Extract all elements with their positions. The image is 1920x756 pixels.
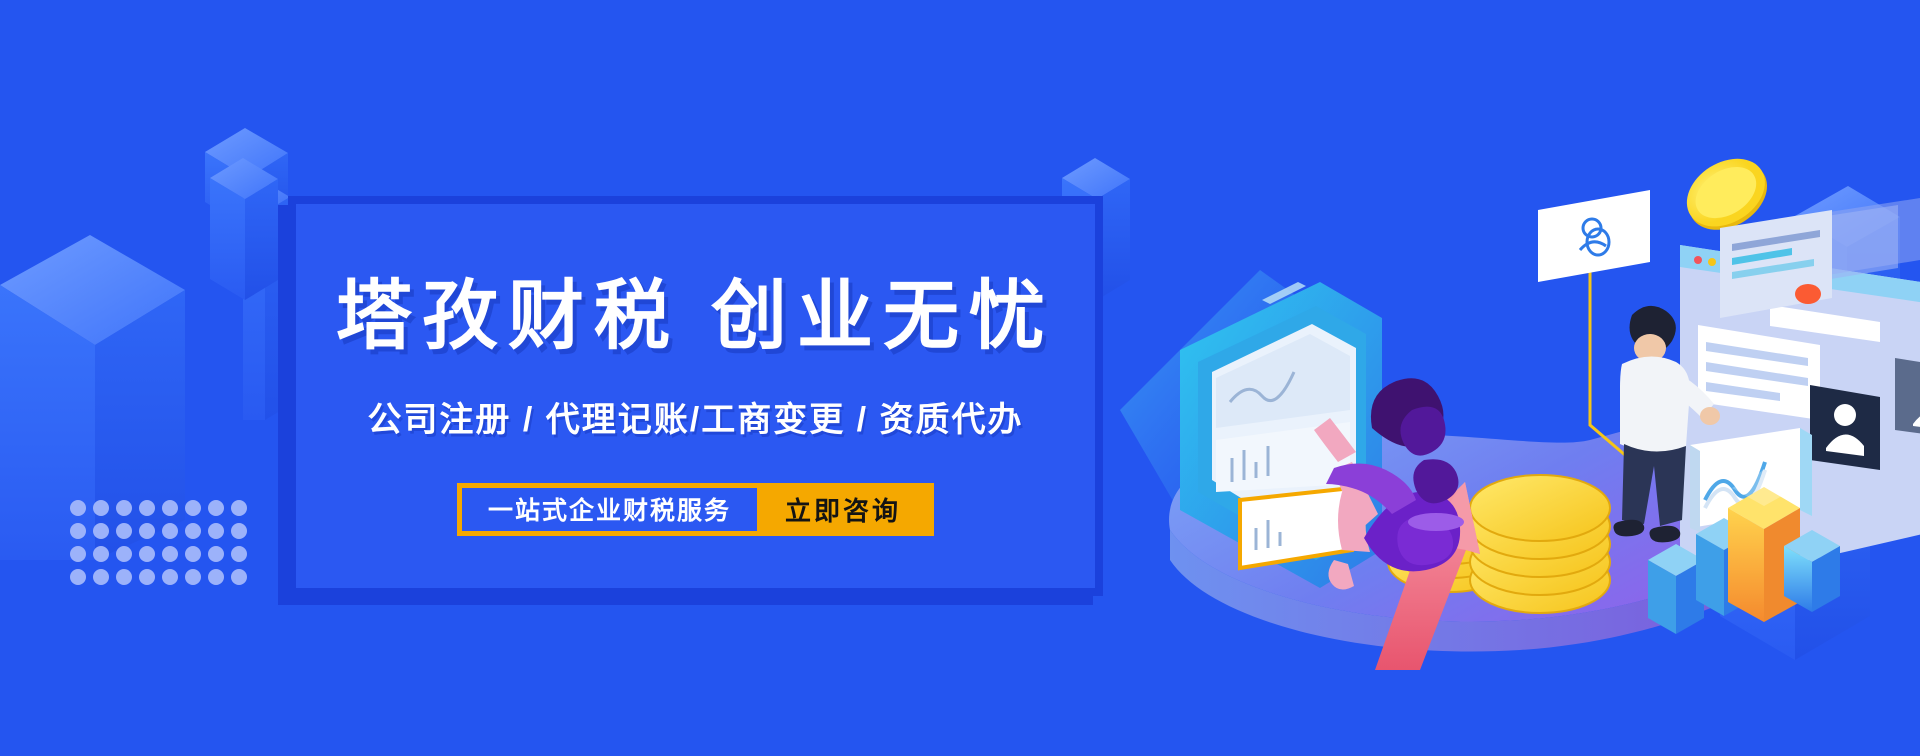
grid-dot: [116, 546, 132, 562]
cube-left-large: [0, 235, 185, 560]
grid-dot: [70, 500, 86, 516]
cta-group: 一站式企业财税服务 立即咨询: [457, 483, 934, 536]
bar-1: [1648, 544, 1704, 634]
consult-now-button[interactable]: 立即咨询: [757, 488, 929, 531]
grid-dot: [93, 546, 109, 562]
bar-4: [1784, 530, 1840, 612]
contact-card: [1538, 190, 1650, 282]
grid-dot: [231, 569, 247, 585]
grid-dot: [231, 500, 247, 516]
isometric-finance-illustration: [1120, 110, 1920, 670]
grid-dot: [70, 523, 86, 539]
grid-dot: [139, 500, 155, 516]
cta-tagline: 一站式企业财税服务: [462, 488, 757, 531]
grid-dot: [208, 523, 224, 539]
cube-frame-top-left: [210, 158, 278, 300]
grid-dot: [162, 569, 178, 585]
grid-dot: [185, 546, 201, 562]
grid-dot: [93, 500, 109, 516]
grid-dot: [116, 569, 132, 585]
grid-dot: [139, 523, 155, 539]
cube-left-small: [205, 128, 288, 228]
grid-dot: [185, 523, 201, 539]
page-title: 塔孜财税 创业无忧: [336, 279, 1055, 355]
grid-dot: [139, 569, 155, 585]
grid-dot: [139, 546, 155, 562]
grid-dot: [185, 569, 201, 585]
grid-dot: [162, 523, 178, 539]
services-subtitle: 公司注册 / 代理记账/工商变更 / 资质代办: [367, 403, 1023, 437]
grid-dot: [116, 523, 132, 539]
dot-grid-decoration: [70, 500, 245, 585]
banner-text-block: 塔孜财税 创业无忧 公司注册 / 代理记账/工商变更 / 资质代办 一站式企业财…: [288, 196, 1103, 596]
grid-dot: [116, 500, 132, 516]
grid-dot: [231, 523, 247, 539]
grid-dot: [162, 546, 178, 562]
grid-dot: [70, 569, 86, 585]
grid-dot: [208, 569, 224, 585]
grid-dot: [208, 500, 224, 516]
grid-dot: [70, 546, 86, 562]
grid-dot: [208, 546, 224, 562]
promo-banner: 塔孜财税 创业无忧 公司注册 / 代理记账/工商变更 / 资质代办 一站式企业财…: [0, 0, 1920, 756]
grid-dot: [93, 523, 109, 539]
grid-dot: [231, 546, 247, 562]
grid-dot: [93, 569, 109, 585]
grid-dot: [162, 500, 178, 516]
grid-dot: [185, 500, 201, 516]
